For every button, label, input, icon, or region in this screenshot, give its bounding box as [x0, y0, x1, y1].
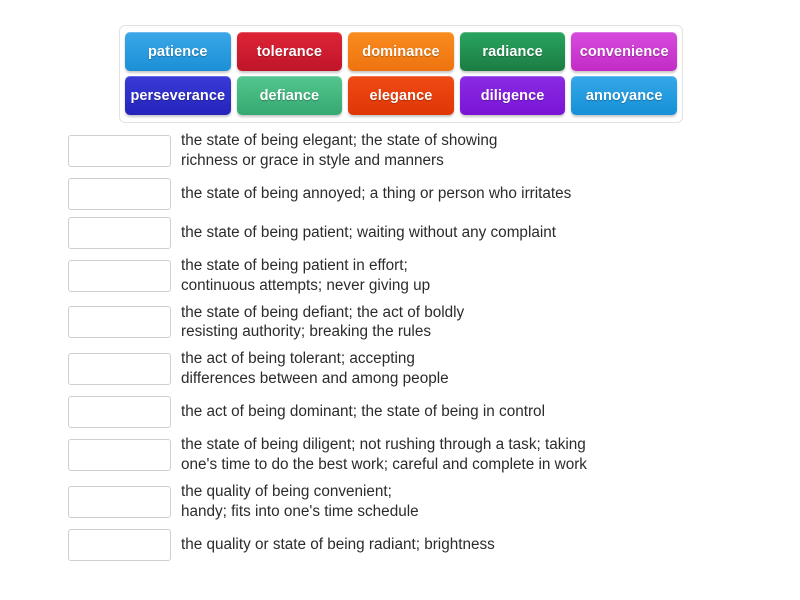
definition-text: the state of being elegant; the state of…	[181, 131, 768, 171]
definition-text: the state of being patient; waiting with…	[181, 223, 768, 243]
answer-drop-box[interactable]	[68, 439, 171, 471]
matching-activity: patiencetolerancedominanceradianceconven…	[0, 0, 800, 600]
word-tile-diligence[interactable]: diligence	[460, 76, 566, 115]
word-tile-defiance[interactable]: defiance	[237, 76, 343, 115]
answer-drop-box[interactable]	[68, 396, 171, 428]
definition-row: the quality or state of being radiant; b…	[68, 529, 768, 561]
definition-row: the quality of being convenient; handy; …	[68, 482, 768, 522]
definition-row: the state of being diligent; not rushing…	[68, 435, 768, 475]
answer-drop-box[interactable]	[68, 260, 171, 292]
answer-drop-box[interactable]	[68, 178, 171, 210]
definition-text: the state of being diligent; not rushing…	[181, 435, 768, 475]
answer-drop-box[interactable]	[68, 135, 171, 167]
definition-text: the quality or state of being radiant; b…	[181, 535, 768, 555]
word-bank-row-2: perseverancedefianceelegancediligenceann…	[125, 76, 677, 115]
answer-drop-box[interactable]	[68, 353, 171, 385]
definition-row: the state of being annoyed; a thing or p…	[68, 178, 768, 210]
word-bank-panel: patiencetolerancedominanceradianceconven…	[119, 25, 683, 123]
word-tile-elegance[interactable]: elegance	[348, 76, 454, 115]
word-tile-radiance[interactable]: radiance	[460, 32, 566, 71]
definition-row: the state of being patient in effort; co…	[68, 256, 768, 296]
answer-drop-box[interactable]	[68, 529, 171, 561]
definition-row: the act of being tolerant; accepting dif…	[68, 349, 768, 389]
definition-text: the state of being patient in effort; co…	[181, 256, 768, 296]
definition-text: the act of being dominant; the state of …	[181, 402, 768, 422]
definition-text: the state of being annoyed; a thing or p…	[181, 184, 768, 204]
definition-text: the state of being defiant; the act of b…	[181, 303, 768, 343]
answer-drop-box[interactable]	[68, 217, 171, 249]
word-tile-perseverance[interactable]: perseverance	[125, 76, 231, 115]
answer-drop-box[interactable]	[68, 306, 171, 338]
word-tile-convenience[interactable]: convenience	[571, 32, 677, 71]
definition-row: the state of being elegant; the state of…	[68, 131, 768, 171]
word-tile-dominance[interactable]: dominance	[348, 32, 454, 71]
word-tile-tolerance[interactable]: tolerance	[237, 32, 343, 71]
word-bank-row-1: patiencetolerancedominanceradianceconven…	[125, 32, 677, 71]
definition-list: the state of being elegant; the state of…	[68, 131, 768, 568]
definition-row: the state of being patient; waiting with…	[68, 217, 768, 249]
answer-drop-box[interactable]	[68, 486, 171, 518]
definition-text: the quality of being convenient; handy; …	[181, 482, 768, 522]
definition-row: the state of being defiant; the act of b…	[68, 303, 768, 343]
word-tile-annoyance[interactable]: annoyance	[571, 76, 677, 115]
word-tile-patience[interactable]: patience	[125, 32, 231, 71]
definition-row: the act of being dominant; the state of …	[68, 396, 768, 428]
definition-text: the act of being tolerant; accepting dif…	[181, 349, 768, 389]
